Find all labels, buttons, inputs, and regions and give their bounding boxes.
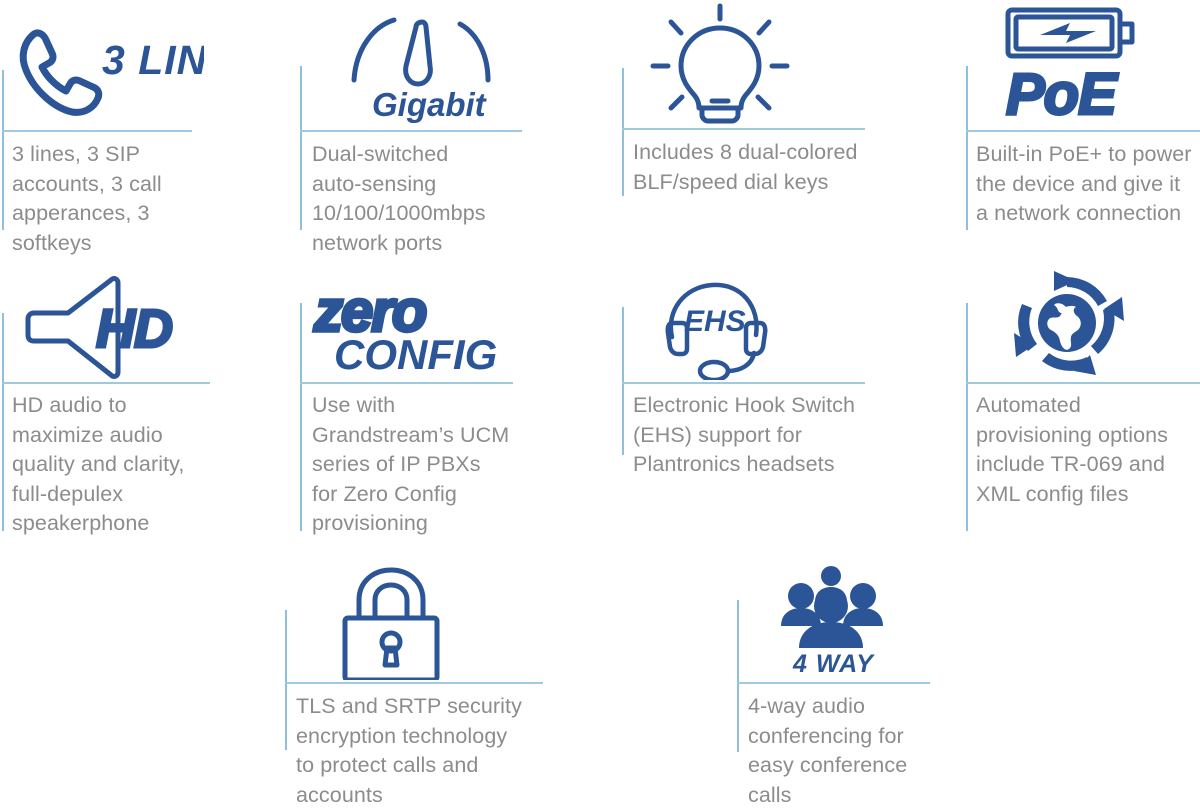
- feature-card-poe: PoE Built-in PoE+ to power the device an…: [964, 0, 1200, 260]
- feature-card-security: TLS and SRTP security encryption technol…: [283, 552, 583, 792]
- cell-rule-horizontal: [2, 130, 192, 132]
- cell-rule-vertical: [285, 610, 287, 750]
- cell-rule-vertical: [966, 303, 968, 531]
- headset-icon: EHS: [648, 275, 808, 380]
- cell-rule-horizontal: [622, 128, 865, 130]
- feature-description: Includes 8 dual-colored BLF/speed dial k…: [633, 138, 908, 197]
- feature-description: 3 lines, 3 SIP accounts, 3 call apperanc…: [12, 140, 262, 258]
- feature-description: Electronic Hook Switch (EHS) support for…: [633, 391, 913, 480]
- speaker-icon: HD: [10, 265, 210, 380]
- feature-card-hd-audio: HD HD audio to maximize audio quality an…: [0, 265, 280, 540]
- cell-rule-horizontal: [2, 382, 210, 384]
- padlock-icon: [321, 560, 461, 680]
- feature-card-ehs: EHS Electronic Hook Switch (EHS) support…: [620, 265, 920, 540]
- svg-text:CONFIG: CONFIG: [334, 331, 497, 378]
- battery-bolt-icon: PoE: [992, 2, 1172, 124]
- cell-rule-vertical: [966, 66, 968, 230]
- cell-rule-horizontal: [622, 382, 865, 384]
- cell-rule-horizontal: [737, 682, 930, 684]
- cell-rule-vertical: [2, 313, 4, 531]
- feature-card-blf: Includes 8 dual-colored BLF/speed dial k…: [620, 0, 920, 260]
- feature-card-lines: 3 LINES 3 lines, 3 SIP accounts, 3 call …: [0, 0, 280, 260]
- feature-description: Automated provisioning options include T…: [976, 391, 1200, 509]
- cell-rule-vertical: [737, 600, 739, 752]
- svg-text:3 LINES: 3 LINES: [102, 37, 204, 83]
- feature-card-gigabit: Gigabit Dual-switched auto-sensing 10/10…: [298, 0, 588, 260]
- feature-description: Built-in PoE+ to power the device and gi…: [976, 140, 1200, 229]
- lightbulb-icon: [640, 2, 800, 124]
- phone-handset-icon: 3 LINES: [14, 18, 204, 118]
- feature-description: Use with Grandstream’s UCM series of IP …: [312, 391, 574, 539]
- cell-rule-vertical: [2, 70, 4, 230]
- svg-text:HD: HD: [96, 299, 172, 359]
- cell-rule-horizontal: [966, 130, 1200, 132]
- cell-rule-horizontal: [300, 130, 522, 132]
- cell-rule-vertical: [300, 303, 302, 531]
- speed-gauge-icon: Gigabit: [336, 8, 516, 123]
- cell-rule-horizontal: [285, 682, 543, 684]
- svg-text:Gigabit: Gigabit: [372, 86, 488, 123]
- feature-card-provisioning: Automated provisioning options include T…: [964, 265, 1200, 540]
- cell-rule-horizontal: [966, 382, 1200, 384]
- zero-config-wordmark-icon: zero CONFIG: [306, 273, 526, 378]
- feature-description: HD audio to maximize audio quality and c…: [12, 391, 262, 539]
- feature-grid: 3 LINES 3 lines, 3 SIP accounts, 3 call …: [0, 0, 1200, 792]
- cell-rule-horizontal: [300, 382, 513, 384]
- cell-rule-vertical: [622, 307, 624, 455]
- feature-card-conference: 4 WAY 4-way audio conferencing for easy …: [735, 552, 1015, 792]
- svg-text:4 WAY: 4 WAY: [792, 650, 875, 676]
- feature-description: TLS and SRTP security encryption technol…: [296, 692, 578, 810]
- feature-description: Dual-switched auto-sensing 10/100/1000mb…: [312, 140, 572, 258]
- svg-text:PoE: PoE: [1006, 62, 1119, 124]
- feature-description: 4-way audio conferencing for easy confer…: [748, 692, 978, 810]
- feature-card-zero-config: zero CONFIG Use with Grandstream’s UCM s…: [298, 265, 588, 540]
- cell-rule-vertical: [300, 66, 302, 230]
- svg-text:EHS: EHS: [684, 305, 746, 338]
- cell-rule-vertical: [622, 68, 624, 196]
- people-group-icon: 4 WAY: [765, 554, 915, 676]
- globe-refresh-icon: [992, 267, 1142, 379]
